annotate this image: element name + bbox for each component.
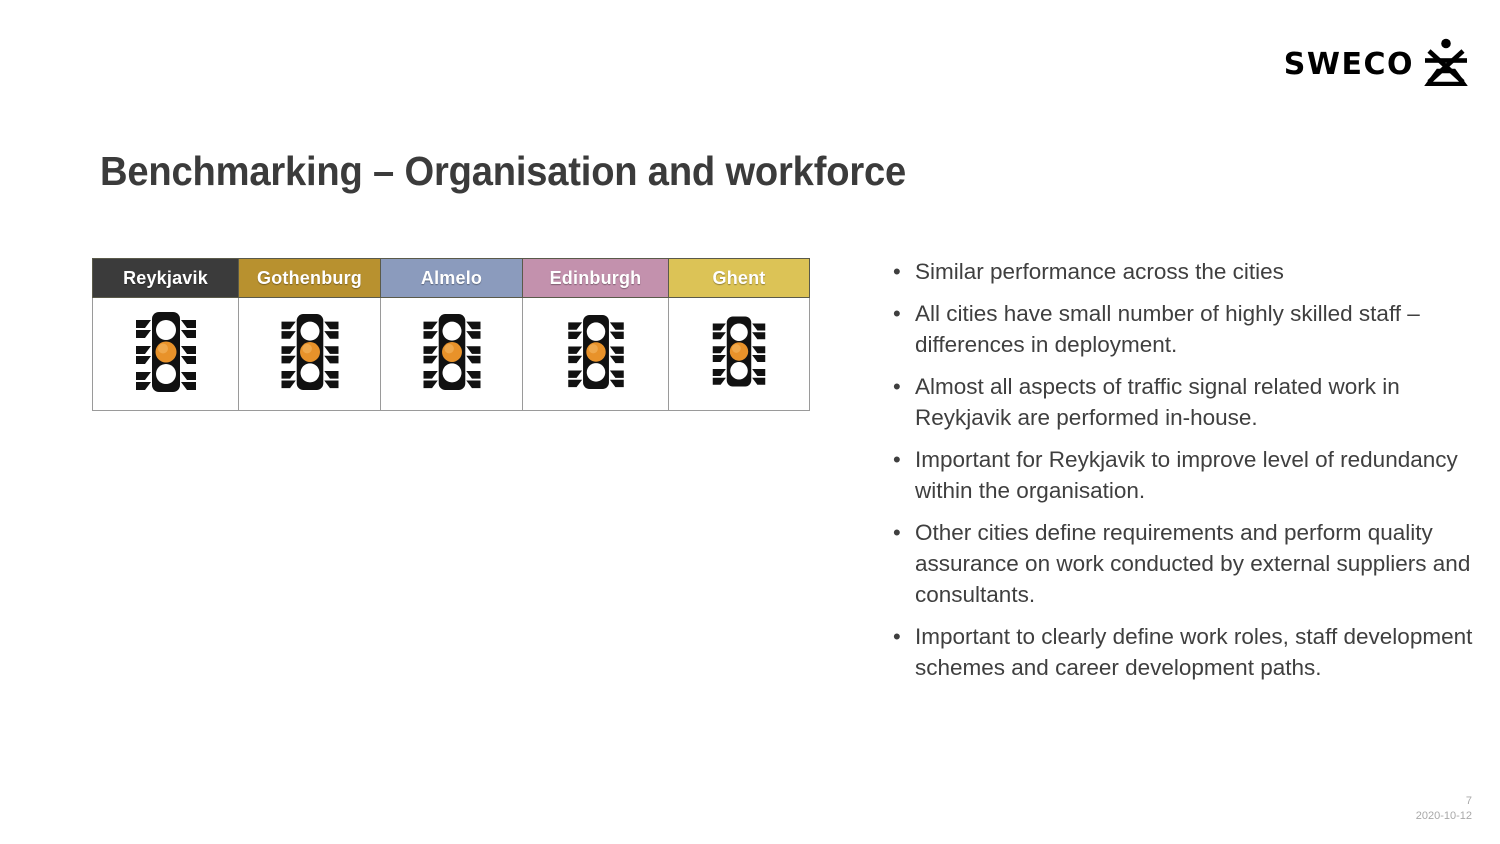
city-label: Ghent [713,268,766,288]
bullet-marker-icon: • [893,517,915,548]
traffic-light-amber-icon [704,311,774,392]
bullet-marker-icon: • [893,621,915,652]
slide-date: 2020-10-12 [1416,809,1472,824]
table-header-cell-reykjavik: Reykjavik [93,259,239,298]
list-item: • Other cities define requirements and p… [893,517,1473,610]
slide-footer: 7 2020-10-12 [1416,794,1472,824]
list-item: • Similar performance across the cities [893,256,1473,287]
table-cell-edinburgh-signal [523,298,669,411]
traffic-light-amber-icon [126,306,206,398]
list-item-text: Almost all aspects of traffic signal rel… [915,371,1473,433]
list-item-text: Important for Reykjavik to improve level… [915,444,1473,506]
table-cell-almelo-signal [381,298,523,411]
table-cell-gothenburg-signal [239,298,381,411]
page-title: Benchmarking – Organisation and workforc… [100,148,906,195]
bullet-marker-icon: • [893,256,915,287]
city-label: Gothenburg [257,268,362,288]
city-label: Almelo [421,268,482,288]
table-header-cell-edinburgh: Edinburgh [523,259,669,298]
table-header-row: Reykjavik Gothenburg Almelo Edinburgh Gh… [93,259,810,298]
table-cell-ghent-signal [669,298,810,411]
sweco-logo: SWECO [1284,38,1468,91]
table-cell-reykjavik-signal [93,298,239,411]
bullet-marker-icon: • [893,298,915,329]
list-item-text: All cities have small number of highly s… [915,298,1473,360]
list-item: • Almost all aspects of traffic signal r… [893,371,1473,433]
list-item-text: Similar performance across the cities [915,256,1473,287]
table-header-cell-gothenburg: Gothenburg [239,259,381,298]
list-item-text: Important to clearly define work roles, … [915,621,1473,683]
list-item-text: Other cities define requirements and per… [915,517,1473,610]
list-item: • Important for Reykjavik to improve lev… [893,444,1473,506]
bullet-marker-icon: • [893,371,915,402]
bullet-marker-icon: • [893,444,915,475]
traffic-light-amber-icon [559,309,633,395]
insights-bullet-list: • Similar performance across the cities … [893,256,1473,694]
table-header-cell-ghent: Ghent [669,259,810,298]
list-item: • Important to clearly define work roles… [893,621,1473,683]
table-header-cell-almelo: Almelo [381,259,523,298]
table-signal-row [93,298,810,411]
sweco-wordmark: SWECO [1284,50,1414,80]
benchmark-table: Reykjavik Gothenburg Almelo Edinburgh Gh… [92,258,810,411]
list-item: • All cities have small number of highly… [893,298,1473,360]
traffic-light-amber-icon [272,308,348,396]
slide-number: 7 [1416,794,1472,809]
traffic-light-amber-icon [414,308,490,396]
city-label: Edinburgh [550,268,642,288]
city-label: Reykjavik [123,268,208,288]
sweco-figure-icon [1424,38,1468,91]
